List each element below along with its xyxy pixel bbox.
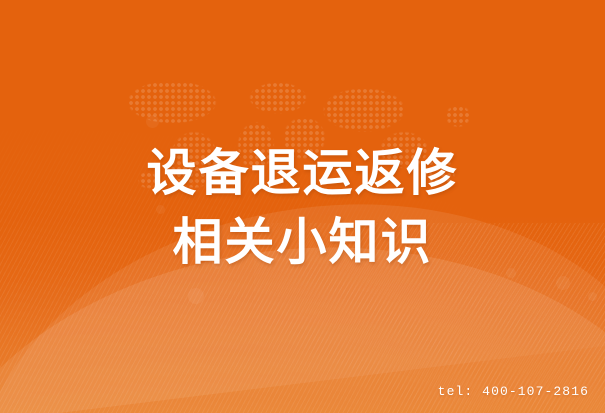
headline-block: 设备退运返修 相关小知识 xyxy=(0,139,605,277)
contact-phone-text: tel: 400-107-2816 xyxy=(438,384,589,399)
poster-canvas: 设备退运返修 相关小知识 tel: 400-107-2816 xyxy=(0,0,605,413)
headline-line-2: 相关小知识 xyxy=(0,208,605,277)
headline-line-1: 设备退运返修 xyxy=(0,139,605,208)
